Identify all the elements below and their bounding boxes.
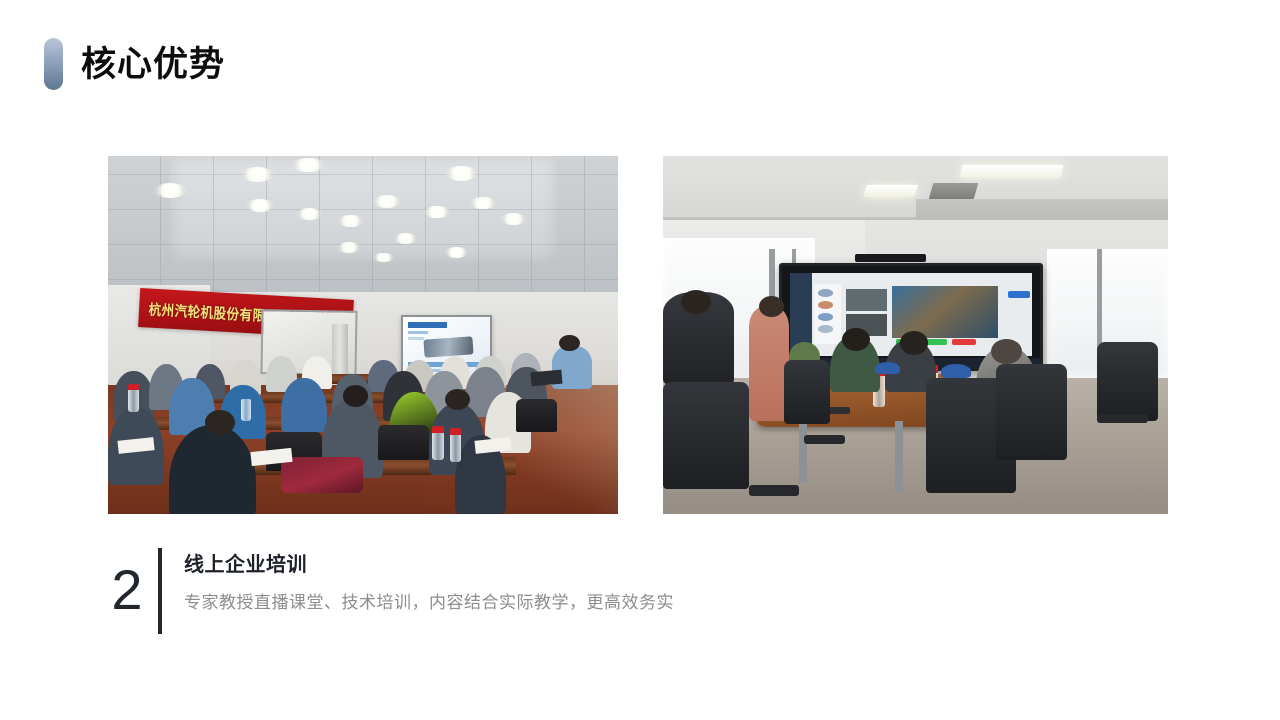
person-head — [681, 290, 711, 313]
blue-cap — [941, 364, 971, 378]
water-bottle — [128, 389, 138, 412]
ceiling-light — [241, 167, 274, 182]
ceiling-light — [292, 158, 325, 172]
water-bottle — [241, 399, 251, 420]
laptop — [531, 369, 563, 386]
chair-back — [516, 399, 557, 431]
person-head — [842, 328, 870, 351]
chair-base — [749, 485, 800, 496]
action-button-blue — [1008, 291, 1030, 298]
ceiling-light — [445, 247, 468, 258]
ceiling-light — [424, 206, 450, 217]
person-head — [900, 331, 928, 354]
water-bottle — [432, 432, 444, 461]
caption-block: 2 线上企业培训 专家教授直播课堂、技术培训，内容结合实际教学，更高效务实 — [100, 548, 674, 634]
ceiling-light — [394, 233, 417, 244]
table-leg — [895, 421, 903, 493]
bottle-cap — [128, 384, 138, 389]
onsite-classroom-training-photo: 杭州汽轮机股份有限公司技术培训 — [108, 156, 618, 514]
office-chair — [784, 360, 829, 424]
office-chair — [1097, 342, 1158, 421]
slide-text-line — [408, 331, 427, 335]
red-bag — [281, 457, 363, 493]
person-head — [991, 339, 1021, 364]
main-video-feed — [892, 286, 999, 338]
action-button-green — [925, 339, 947, 345]
water-bottle — [450, 433, 462, 462]
slide-text-line — [408, 337, 424, 340]
participant-avatar — [818, 301, 833, 309]
slide-title-row: 核心优势 — [44, 38, 225, 90]
attendee-head — [445, 389, 471, 410]
presentation-slide: 核心优势 杭州汽轮机股份有限公司技术培训 — [0, 0, 1280, 720]
person-head — [759, 296, 784, 317]
caption-number: 2 — [100, 562, 154, 618]
caption-heading: 线上企业培训 — [184, 552, 674, 578]
fluorescent-light — [959, 165, 1063, 178]
table-leg — [799, 421, 807, 482]
slide-title-bar — [408, 322, 446, 327]
presenter-head — [559, 335, 579, 351]
participant-list — [814, 284, 841, 344]
bottle-cap — [450, 428, 462, 434]
attendee-head — [343, 385, 369, 406]
ceiling-light — [470, 197, 496, 208]
blue-cap — [875, 362, 900, 375]
standing-person-pink-coat — [749, 306, 789, 421]
office-chair — [996, 364, 1067, 461]
air-vent — [928, 183, 978, 199]
caption-divider — [158, 548, 162, 634]
display-camera-bar — [855, 254, 926, 262]
camera-tile — [846, 289, 887, 311]
ceiling-light — [154, 183, 187, 198]
page-title: 核心优势 — [81, 47, 225, 82]
participant-avatar — [818, 289, 833, 297]
ceiling-light — [338, 242, 361, 253]
office-chair — [663, 382, 749, 489]
bottle-cap — [432, 426, 444, 432]
ceiling-light — [501, 213, 527, 224]
caption-text-group: 线上企业培训 专家教授直播课堂、技术培训，内容结合实际教学，更高效务实 — [184, 548, 674, 614]
chair-base — [1097, 414, 1148, 423]
action-button-red — [952, 339, 976, 345]
ceiling-light — [445, 166, 478, 181]
online-video-conference-photo — [663, 156, 1168, 514]
ceiling-light — [338, 215, 364, 226]
wall-pillar — [332, 324, 347, 374]
ceiling-light — [246, 199, 274, 212]
participant-avatar — [818, 325, 833, 333]
pill-bullet-icon — [44, 38, 63, 90]
caption-subtitle: 专家教授直播课堂、技术培训，内容结合实际教学，更高效务实 — [184, 592, 674, 614]
fluorescent-light — [863, 185, 917, 197]
turbine-diagram — [423, 336, 473, 358]
ceiling-light — [373, 253, 393, 262]
chair-back — [378, 425, 429, 461]
participant-avatar — [818, 313, 833, 321]
chair-base — [804, 435, 844, 444]
